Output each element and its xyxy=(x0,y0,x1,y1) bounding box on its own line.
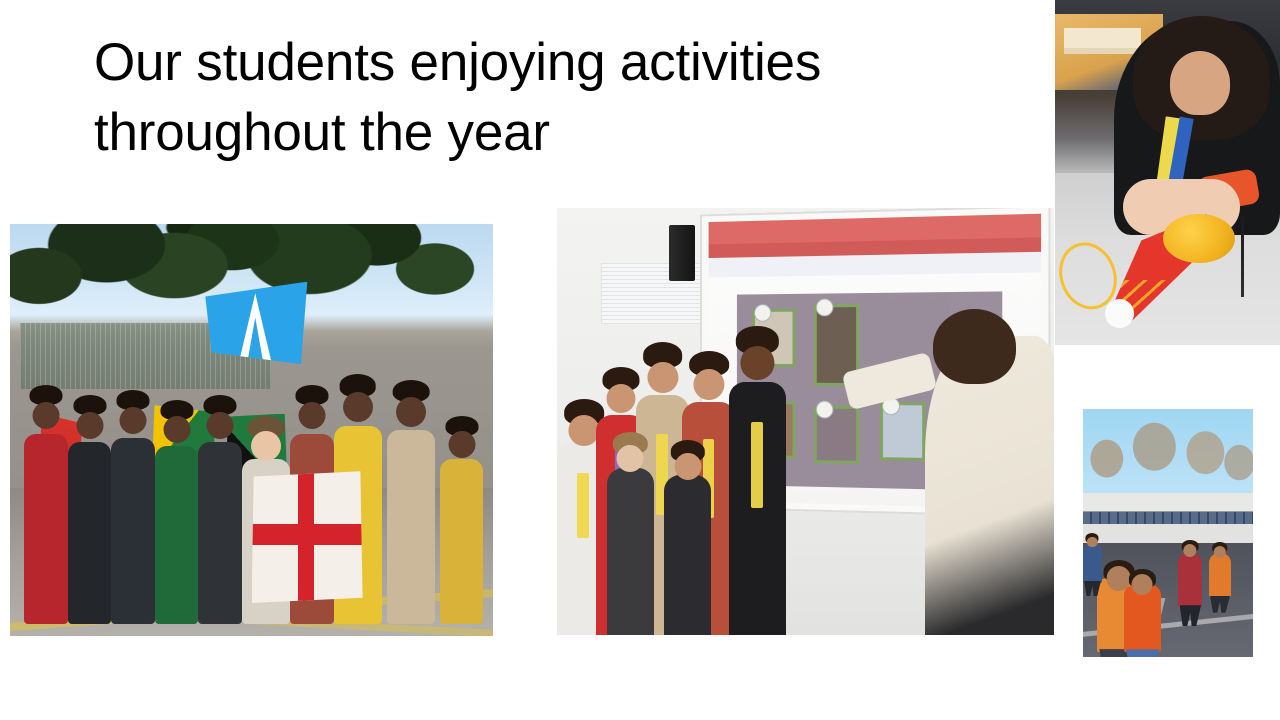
student-figure xyxy=(1178,553,1202,608)
student-figure xyxy=(111,438,154,623)
school-building xyxy=(1083,493,1253,548)
photo-playground-scene xyxy=(1083,409,1253,657)
england-flag xyxy=(252,471,363,603)
student-figure xyxy=(729,382,786,635)
student-figure xyxy=(387,430,435,624)
student-group xyxy=(557,302,915,635)
background-books xyxy=(1064,28,1141,49)
photo-textiles-scene xyxy=(1055,0,1280,345)
student-figure xyxy=(440,459,483,624)
student-figure xyxy=(198,442,241,623)
student-figure xyxy=(664,475,711,635)
hat-pompom xyxy=(1105,299,1134,328)
student-figure xyxy=(24,434,67,624)
application-ribbon xyxy=(709,214,1041,259)
photo-classroom-scene xyxy=(557,208,1054,635)
presentation-slide: Our students enjoying activities through… xyxy=(0,0,1280,720)
student-figure xyxy=(155,446,198,623)
student-figure xyxy=(607,468,654,635)
photo-textiles[interactable] xyxy=(1055,0,1280,345)
photo-classroom[interactable] xyxy=(557,208,1054,635)
yellow-yarn-ball xyxy=(1163,214,1235,264)
pen xyxy=(1241,214,1244,297)
teacher-figure xyxy=(925,336,1054,635)
photo-culture-day-scene xyxy=(10,224,493,636)
photo-playground[interactable] xyxy=(1083,409,1253,657)
student-figure xyxy=(1083,543,1102,583)
student-face xyxy=(1170,51,1230,115)
photo-culture-day[interactable] xyxy=(10,224,493,636)
student-figure xyxy=(68,442,111,623)
page-title: Our students enjoying activities through… xyxy=(94,28,974,168)
student-figure xyxy=(1124,585,1161,652)
student-figure xyxy=(1209,553,1231,598)
wall-speaker xyxy=(669,225,695,281)
